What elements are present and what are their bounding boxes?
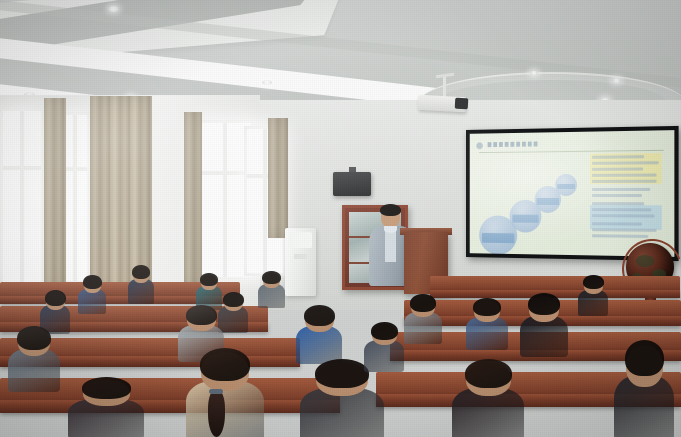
audience-dark-suit-rear xyxy=(578,272,608,314)
projector-lens-icon xyxy=(455,98,469,110)
audience-front-right-hair xyxy=(452,352,524,437)
audience-back-center-hair xyxy=(262,271,281,284)
audience-ponytail-woman xyxy=(186,340,264,437)
step-circle-label-band xyxy=(557,184,575,190)
slide-text-line xyxy=(592,202,644,205)
audience-right-edge xyxy=(614,332,674,437)
slide-text-line xyxy=(592,161,658,165)
audience-grey-coat-right xyxy=(404,290,442,342)
audience-right-edge-hair xyxy=(625,340,664,376)
slide-text-line xyxy=(592,155,645,159)
step-circle-1 xyxy=(555,174,577,196)
audience-ponytail-woman-hair xyxy=(200,348,250,381)
audience-navy-left-hair xyxy=(45,290,66,306)
slide-text-line xyxy=(592,180,656,183)
slide-text-line xyxy=(592,188,650,191)
audience-front-left-man-hair xyxy=(17,326,51,350)
projector-mount-pole xyxy=(443,76,446,98)
slide-text-line xyxy=(592,222,642,225)
audience-blue-denim xyxy=(466,294,508,348)
hair-tie xyxy=(209,389,223,395)
slide-text-line xyxy=(592,228,657,232)
audience-teal-shirt-hair xyxy=(200,273,218,286)
audience-front-left-man xyxy=(8,320,60,390)
audience-front-far-left-hair xyxy=(82,377,131,399)
audience-blue-denim-hair xyxy=(473,298,501,316)
audience-back-center xyxy=(258,268,285,306)
slide-step-circles xyxy=(473,148,585,251)
audience-front-right-hair-hair xyxy=(465,359,512,388)
audience-blue-top-hair xyxy=(83,275,102,289)
presenter-hair xyxy=(380,204,401,216)
audience-dark-jacket-hair xyxy=(223,292,244,307)
audience-suit-man-left xyxy=(128,262,154,302)
audience-long-hair-front-hair xyxy=(315,359,369,388)
audience-front-far-left xyxy=(68,372,144,437)
highlight-blue-block xyxy=(592,202,660,218)
slide-text-line xyxy=(592,208,651,211)
audience-black-long-hair xyxy=(520,288,568,354)
audience-suit-man-left-hair xyxy=(132,265,150,279)
slide-text-line xyxy=(592,214,654,217)
slide-text-line xyxy=(592,173,657,176)
curtain-right xyxy=(268,118,288,238)
audience-striped-shirt-hair xyxy=(304,305,335,326)
audience-seating-area xyxy=(0,240,681,437)
audience-grey-hoodie-hair xyxy=(186,305,217,325)
presenter-collar xyxy=(384,226,397,233)
audience-grey-coat-right-hair xyxy=(410,294,436,312)
desk-row-4-face xyxy=(0,400,340,413)
ponytail xyxy=(208,390,225,437)
audience-dark-suit-rear-hair xyxy=(583,275,604,289)
audience-black-long-hair-hair xyxy=(528,293,560,315)
wall-speaker xyxy=(333,172,371,196)
audience-mid-right-hair xyxy=(371,322,398,340)
slide-title-text xyxy=(488,141,538,147)
step-circle-label-band xyxy=(537,198,559,205)
conference-room-photo xyxy=(0,0,681,437)
audience-black-long-hair-torso xyxy=(520,316,568,357)
plain-block-2 xyxy=(592,222,660,238)
step-circle-label-band xyxy=(512,214,539,223)
audience-blue-top xyxy=(78,272,106,312)
presentation-slide xyxy=(470,130,675,257)
highlight-yellow-block xyxy=(592,155,660,183)
audience-mid-right xyxy=(364,318,404,370)
slide-text-line xyxy=(592,194,642,197)
plain-block-1 xyxy=(592,188,660,197)
slide-text-line xyxy=(592,234,649,238)
slide-text-line xyxy=(592,167,643,170)
slide-text-blocks xyxy=(592,155,660,249)
